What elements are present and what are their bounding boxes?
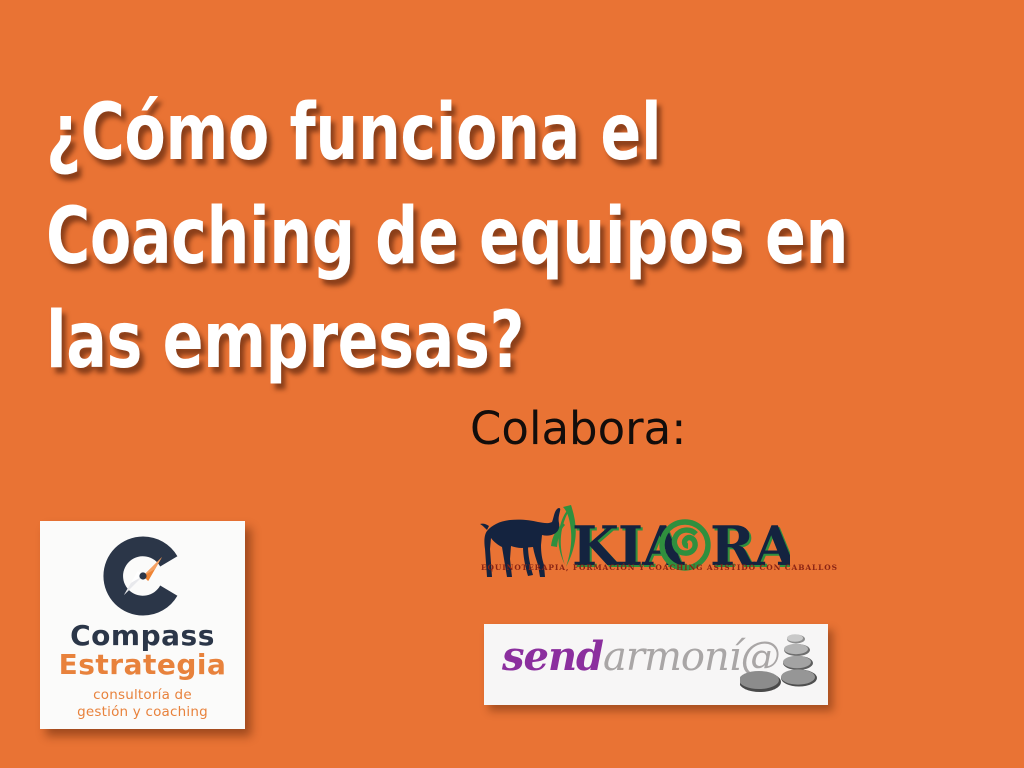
- slide-title: ¿Cómo funciona el Coaching de equipos en…: [46, 82, 876, 393]
- compass-c-mark-icon: [100, 533, 186, 619]
- presentation-slide: ¿Cómo funciona el Coaching de equipos en…: [0, 0, 1024, 768]
- sendarmonia-wordmark: sendarmoní@: [502, 637, 780, 677]
- stacked-stones-icon: [740, 630, 818, 700]
- kiaora-logo: KIA KIA RA RA: [478, 503, 790, 585]
- sendarmonia-logo: sendarmoní@: [484, 624, 828, 705]
- kiaora-tagline: EQUINOTERAPIA, FORMACIÓN Y COACHING ASIS…: [481, 563, 787, 572]
- compass-estrategia-logo: Compass Estrategia consultoría de gestió…: [40, 521, 245, 729]
- compass-wordmark: Compass Estrategia consultoría de gestió…: [40, 621, 245, 722]
- compass-tagline-line1: consultoría de: [40, 687, 245, 704]
- compass-line2: Estrategia: [40, 650, 245, 681]
- sendarmonia-word-bold: send: [502, 633, 603, 680]
- compass-line1: Compass: [40, 621, 245, 650]
- compass-tagline-line2: gestión y coaching: [40, 704, 245, 721]
- collaborators-label: Colabora:: [470, 402, 686, 455]
